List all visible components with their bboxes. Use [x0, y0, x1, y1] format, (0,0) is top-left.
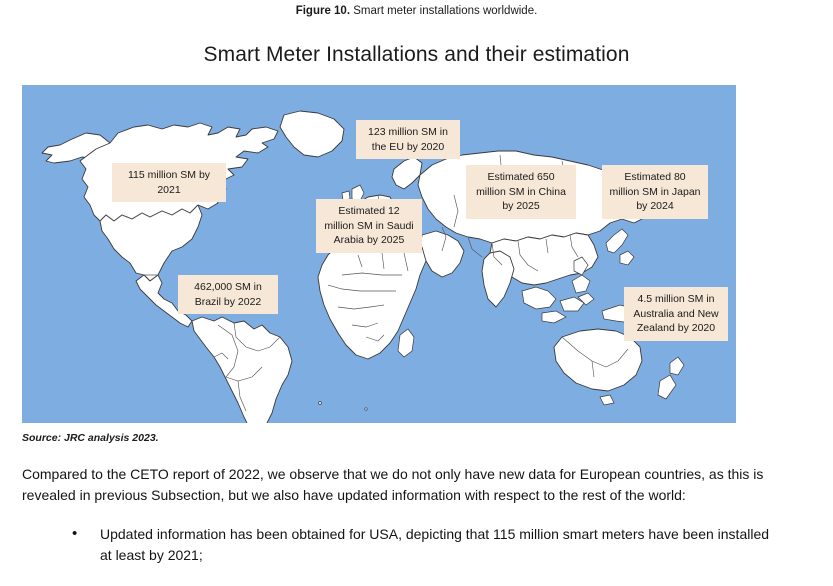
figure-label: Figure 10.	[296, 5, 350, 17]
chart-title: Smart Meter Installations and their esti…	[0, 42, 833, 68]
callout-australia-new-zealand: 4.5 million SM in Australia and New Zeal…	[624, 287, 728, 341]
callout-usa: 115 million SM by 2021	[112, 163, 226, 202]
body-bullet-list: Updated information has been obtained fo…	[58, 524, 782, 566]
world-map: 115 million SM by 2021 123 million SM in…	[22, 85, 736, 423]
callout-eu: 123 million SM in the EU by 2020	[356, 120, 460, 159]
callout-saudi-arabia: Estimated 12 million SM in Saudi Arabia …	[316, 199, 422, 253]
callout-brazil: 462,000 SM in Brazil by 2022	[178, 275, 278, 314]
figure-caption: Figure 10. Smart meter installations wor…	[0, 4, 833, 18]
source-note: Source: JRC analysis 2023.	[22, 432, 159, 444]
callout-china: Estimated 650 million SM in China by 202…	[466, 165, 576, 219]
body-paragraph: Compared to the CETO report of 2022, we …	[22, 464, 782, 506]
figure-caption-text: Smart meter installations worldwide.	[350, 5, 537, 17]
callout-japan: Estimated 80 million SM in Japan by 2024	[602, 165, 708, 219]
list-item: Updated information has been obtained fo…	[58, 524, 782, 566]
document-page: Figure 10. Smart meter installations wor…	[0, 0, 833, 586]
